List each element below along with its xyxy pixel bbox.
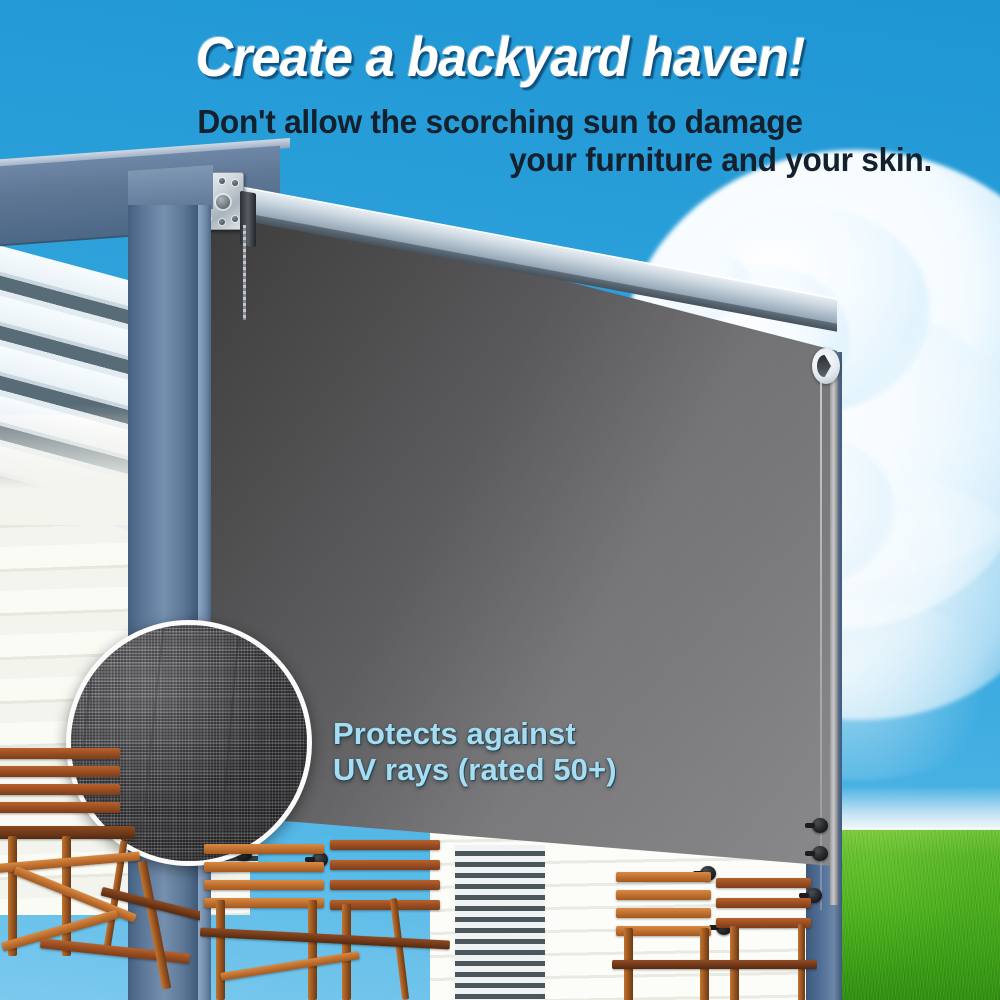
bracket-bolt-hole: [219, 219, 225, 225]
blind-right-edge-rail: [830, 360, 838, 905]
side-guide-clip: [812, 846, 828, 861]
wooden-furniture-right: [612, 868, 817, 1000]
window-louver-blinds-lower: [455, 845, 545, 1000]
bracket-hub: [216, 195, 230, 209]
wooden-furniture-middle: [200, 838, 450, 1000]
roller-end-cap-icon: [812, 348, 840, 384]
page-headline: Create a backyard haven!: [35, 28, 965, 86]
subheadline-line-1: Don't allow the scorching sun to damage: [58, 103, 941, 141]
page-subheadline: Don't allow the scorching sun to damage …: [20, 103, 980, 179]
operating-chain: [243, 225, 246, 320]
wooden-furniture-left: [0, 740, 200, 1000]
subheadline-line-2: your furniture and your skin.: [58, 141, 941, 179]
bracket-bolt-hole: [232, 180, 238, 186]
side-guide-clip: [812, 818, 828, 833]
uv-protection-callout: Protects against UV rays (rated 50+): [333, 716, 617, 788]
bracket-bolt-hole: [232, 216, 238, 222]
product-banner: Protects against UV rays (rated 50+): [0, 0, 1000, 1000]
